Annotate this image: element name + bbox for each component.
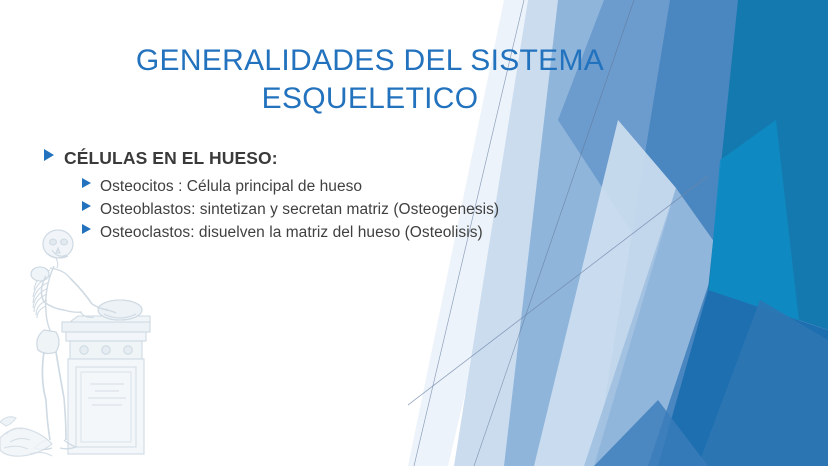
list-item: Osteoclastos: disuelven la matriz del hu… [82,224,614,242]
poly-bottom-left-tri [594,400,708,466]
poly-steel-bottom [698,300,828,466]
base-figure [0,417,52,456]
poly-deep-blue-bottom [658,290,828,466]
triangle-right-icon [82,178,91,188]
triangle-right-icon [82,201,91,211]
list-item-label: Osteoblastos: sintetizan y secretan matr… [100,201,499,219]
bullet-heading: CÉLULAS EN EL HUESO: [44,148,614,169]
list-item-label: Osteocitos : Célula principal de hueso [100,178,362,196]
skeleton-svg [0,226,158,466]
poly-teal-right [708,0,828,330]
list-item-label: Osteoclastos: disuelven la matriz del hu… [100,224,483,242]
tomb-pedestal [62,300,150,454]
bullet-heading-label: CÉLULAS EN EL HUESO: [64,148,278,169]
bullet-list: CÉLULAS EN EL HUESO: Osteocitos : Célula… [44,148,614,247]
poly-cyan-accent [708,120,800,330]
slide-canvas: GENERALIDADES DEL SISTEMA ESQUELETICO CÉ… [0,0,828,466]
page-title: GENERALIDADES DEL SISTEMA ESQUELETICO [90,42,650,119]
list-item: Osteocitos : Célula principal de hueso [82,178,614,196]
list-item: Osteoblastos: sintetizan y secretan matr… [82,201,614,219]
skeleton-figure [31,230,116,450]
title-line-2: ESQUELETICO [90,80,650,118]
triangle-right-icon [44,149,54,161]
title-line-1: GENERALIDADES DEL SISTEMA [90,42,650,80]
triangle-right-icon [82,224,91,234]
skeleton-illustration-watermark [0,226,158,466]
